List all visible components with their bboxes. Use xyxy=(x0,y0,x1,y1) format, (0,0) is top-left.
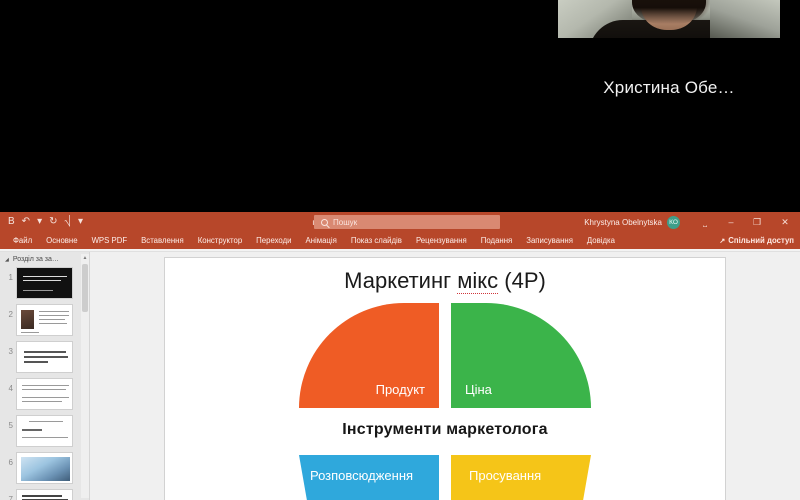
tab-review[interactable]: Рецензування xyxy=(409,232,474,249)
slide-number: 6 xyxy=(2,452,13,467)
shape-price-label: Ціна xyxy=(465,382,492,397)
slide-title[interactable]: Маркетинг мікс (4Р) xyxy=(165,268,725,294)
account-name[interactable]: Khrystyna Obelnytska xyxy=(584,218,662,227)
workspace: ◢ Розділ за за… 1 2 xyxy=(0,252,800,500)
shape-product-quadrant[interactable]: Продукт xyxy=(299,303,439,408)
slide-thumbnail-2[interactable] xyxy=(16,304,73,336)
slide-thumbnail-6[interactable] xyxy=(16,452,73,484)
list-item[interactable]: 1 xyxy=(0,266,89,303)
slide-title-suffix: (4Р) xyxy=(498,268,546,293)
titlebar-right-group: Khrystyna Obelnytska КО ⎵ – ❐ ✕ xyxy=(584,212,800,232)
slide-thumbnail-5[interactable] xyxy=(16,415,73,447)
slide-stage: Маркетинг мікс (4Р) Продукт Ціна Інструм… xyxy=(90,252,800,500)
slide-thumbnail-pane[interactable]: ◢ Розділ за за… 1 2 xyxy=(0,252,90,500)
share-button-label: Спільний доступ xyxy=(728,236,794,245)
slide-title-prefix: Маркетинг xyxy=(344,268,457,293)
title-bar: ὚B ↶ ▾ ↻ ⎷ ▾ презентація Обельницька 11.… xyxy=(0,212,800,232)
start-presentation-icon[interactable]: ⎷ xyxy=(64,217,71,227)
shape-price-quadrant[interactable]: Ціна xyxy=(451,303,591,408)
current-slide[interactable]: Маркетинг мікс (4Р) Продукт Ціна Інструм… xyxy=(165,258,725,500)
ribbon-display-options-button[interactable]: ⎵ xyxy=(692,212,718,232)
close-button[interactable]: ✕ xyxy=(770,212,800,232)
powerpoint-window: ὚B ↶ ▾ ↻ ⎷ ▾ презентація Обельницька 11.… xyxy=(0,212,800,500)
shape-promotion-label: Просування xyxy=(469,468,541,483)
slide-thumbnail-4[interactable] xyxy=(16,378,73,410)
tab-home[interactable]: Основне xyxy=(39,232,84,249)
tab-transitions[interactable]: Переходи xyxy=(249,232,298,249)
avatar[interactable]: КО xyxy=(667,216,680,229)
slide-thumbnail-1[interactable] xyxy=(16,267,73,299)
slide-number: 3 xyxy=(2,341,13,356)
scrollbar-thumb[interactable] xyxy=(82,264,88,312)
middle-heading[interactable]: Інструменти маркетолога xyxy=(165,421,725,439)
participant-name-label: Христина Обе… xyxy=(558,78,780,98)
ribbon-tab-strip: Файл Основне WPS PDF Вставлення Конструк… xyxy=(0,232,800,249)
webcam-video-feed xyxy=(558,0,780,38)
share-button[interactable]: ↗ Спільний доступ xyxy=(719,232,794,249)
share-icon: ↗ xyxy=(719,237,725,245)
slide-number: 5 xyxy=(2,415,13,430)
screen-root: Христина Обе… ὚B ↶ ▾ ↻ ⎷ ▾ презентація О… xyxy=(0,0,800,500)
tab-slideshow[interactable]: Показ слайдів xyxy=(344,232,409,249)
search-icon xyxy=(321,219,328,226)
slide-number: 2 xyxy=(2,304,13,319)
slide-number: 4 xyxy=(2,378,13,393)
shape-place-trapezoid[interactable]: Розповсюдження xyxy=(299,455,439,500)
list-item[interactable]: 2 xyxy=(0,303,89,340)
list-item[interactable]: 4 xyxy=(0,377,89,414)
collapse-triangle-icon[interactable]: ◢ xyxy=(5,257,9,263)
slide-number: 7 xyxy=(2,489,13,500)
section-header[interactable]: ◢ Розділ за за… xyxy=(0,252,89,266)
list-item[interactable]: 3 xyxy=(0,340,89,377)
slide-title-misspelled-word: мікс xyxy=(457,268,498,294)
quick-access-toolbar: ὚B ↶ ▾ ↻ ⎷ ▾ xyxy=(0,217,83,227)
tab-file[interactable]: Файл xyxy=(6,232,39,249)
tab-view[interactable]: Подання xyxy=(474,232,520,249)
webcam-video-tile[interactable] xyxy=(558,0,780,38)
marketing-mix-top-row: Продукт Ціна xyxy=(299,303,591,408)
tab-insert[interactable]: Вставлення xyxy=(134,232,191,249)
redo-icon[interactable]: ↻ xyxy=(49,217,57,227)
undo-dropdown-icon[interactable]: ▾ xyxy=(37,217,42,227)
marketing-mix-bottom-row: Розповсюдження Просування xyxy=(299,455,591,500)
tab-animations[interactable]: Анімація xyxy=(299,232,344,249)
section-header-label: Розділ за за… xyxy=(13,256,59,263)
shape-place-label: Розповсюдження xyxy=(310,468,413,483)
thumbnail-scrollbar[interactable]: ▲ xyxy=(81,254,89,498)
save-icon[interactable]: ὚B xyxy=(8,217,15,227)
minimize-button[interactable]: – xyxy=(718,212,744,232)
list-item[interactable]: 7 xyxy=(0,488,89,500)
search-placeholder: Пошук xyxy=(333,218,357,227)
undo-icon[interactable]: ↶ xyxy=(22,217,30,227)
customize-qat-icon[interactable]: ▾ xyxy=(78,217,83,227)
shape-product-label: Продукт xyxy=(376,382,425,397)
tab-design[interactable]: Конструктор xyxy=(191,232,249,249)
video-conference-area: Христина Обе… xyxy=(0,0,800,212)
restore-button[interactable]: ❐ xyxy=(744,212,770,232)
tab-recording[interactable]: Записування xyxy=(519,232,580,249)
slide-number: 1 xyxy=(2,267,13,282)
shape-promotion-trapezoid[interactable]: Просування xyxy=(451,455,591,500)
scroll-up-icon[interactable]: ▲ xyxy=(81,254,89,262)
slide-thumbnail-7[interactable] xyxy=(16,489,73,500)
list-item[interactable]: 5 xyxy=(0,414,89,451)
list-item[interactable]: 6 xyxy=(0,451,89,488)
search-input[interactable]: Пошук xyxy=(314,215,500,229)
slide-thumbnail-3[interactable] xyxy=(16,341,73,373)
tab-help[interactable]: Довідка xyxy=(580,232,622,249)
tab-wps-pdf[interactable]: WPS PDF xyxy=(85,232,135,249)
